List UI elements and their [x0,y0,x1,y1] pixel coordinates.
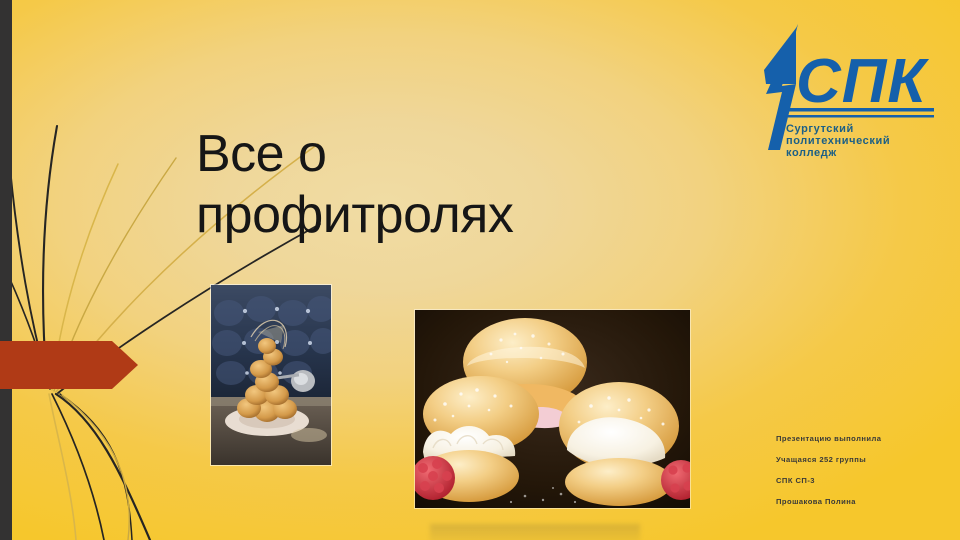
orange-arrow-shape [0,341,138,389]
logo-rule-top [788,108,934,112]
author-line-3: СПК СП-3 [776,470,956,491]
spk-logo: СПК Сургутский политехнический колледж [752,22,934,162]
logo-rule-bottom [788,115,934,118]
logo-line-2: политехнический [786,135,890,147]
cream-profiteroles-photo [415,310,690,508]
logo-blade-icon [764,28,796,84]
author-block: Презентацию выполнила Учащаяся 252 групп… [776,428,956,512]
profiterole-tower-photo [211,285,331,465]
logo-line-1: Сургутский [786,123,854,135]
author-line-4: Прошакова Полина [776,491,956,512]
page-title: Все о профитролях [196,124,716,246]
presentation-slide: Все о профитролях СПК Сургутский политех… [0,0,960,540]
bottom-shadow-band [430,524,640,540]
author-line-2: Учащаяся 252 группы [776,449,956,470]
left-accent-bar [0,0,12,540]
logo-acronym: СПК [796,47,929,116]
author-line-1: Презентацию выполнила [776,428,956,449]
logo-line-3: колледж [786,147,837,159]
